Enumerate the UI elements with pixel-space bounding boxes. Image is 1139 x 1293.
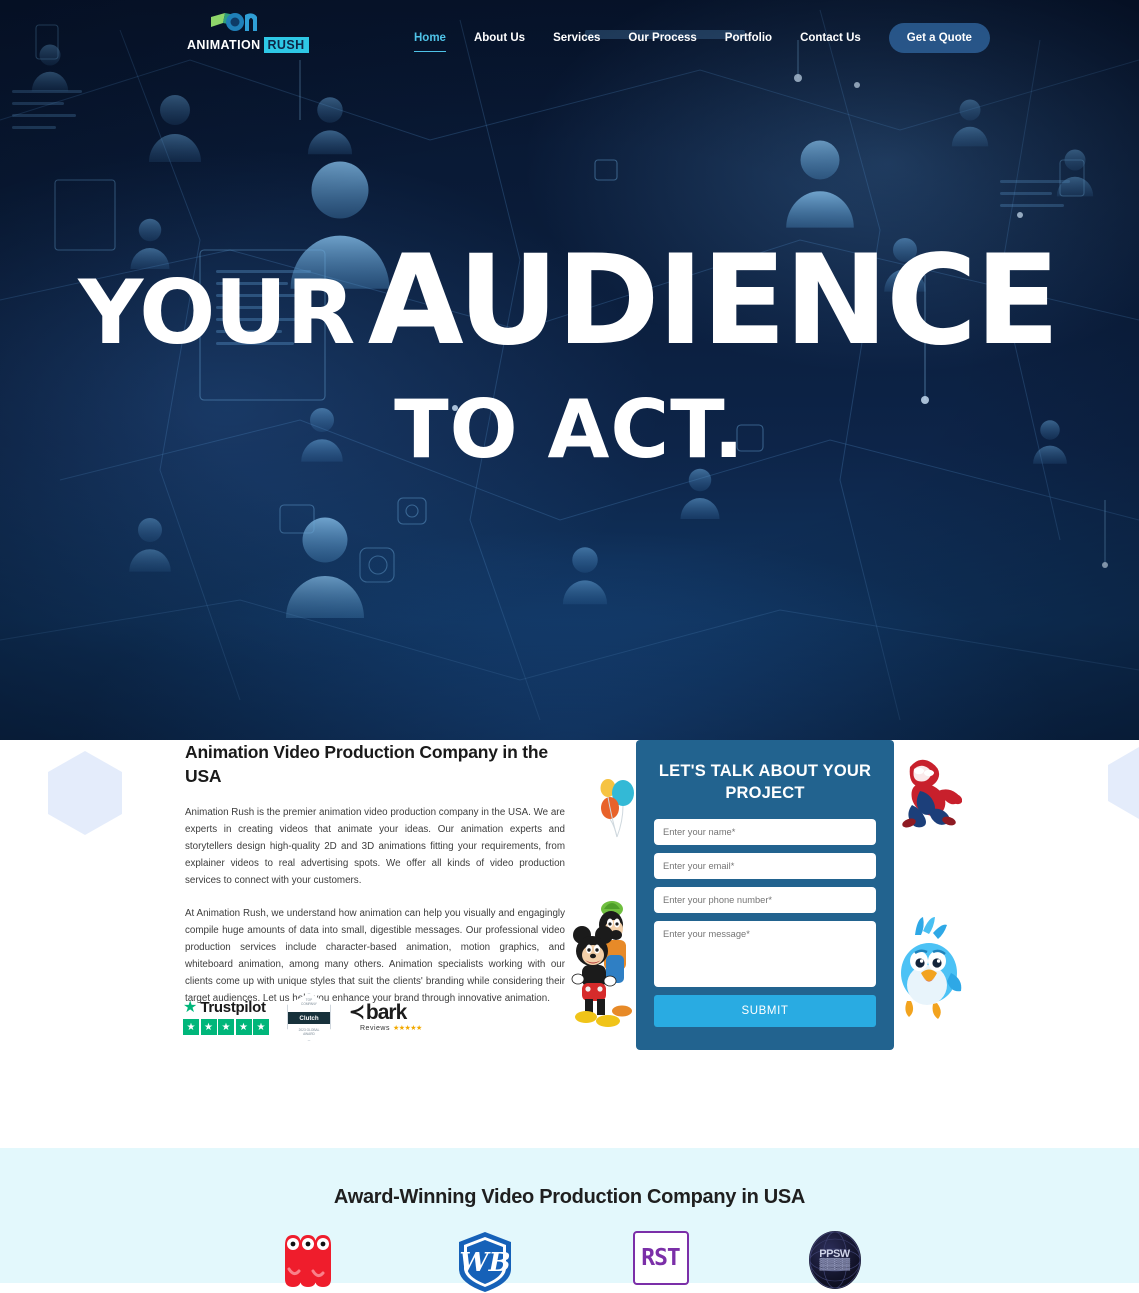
page-title: Animation Video Production Company in th…	[185, 741, 565, 788]
nav-item-contact-us[interactable]: Contact Us	[786, 32, 875, 44]
bark-chevron-icon: ≺	[349, 1003, 365, 1022]
decorative-hexagon-left	[48, 751, 122, 835]
main-navigation: Home About Us Services Our Process Portf…	[400, 23, 990, 53]
get-a-quote-button[interactable]: Get a Quote	[889, 23, 990, 53]
star-icon: ★	[218, 1019, 234, 1035]
balloons-decoration	[595, 775, 641, 845]
nav-item-services[interactable]: Services	[539, 32, 614, 44]
ppsw-logo: PPSW ▓▓▓▓	[809, 1231, 861, 1287]
phone-field[interactable]	[654, 887, 876, 913]
message-field[interactable]	[654, 921, 876, 987]
landing-page: ANIMATION RUSH Home About Us Services Ou…	[0, 0, 1139, 1283]
nav-item-portfolio[interactable]: Portfolio	[711, 32, 786, 44]
nav-item-about-us[interactable]: About Us	[460, 32, 539, 44]
trust-badges: ★ Trustpilot ★ ★ ★ ★ ★ TOPCOMPANY Clutch…	[183, 993, 422, 1041]
cartoon-characters-mickey-goofy	[564, 885, 644, 1035]
star-icon: ★	[183, 1019, 199, 1035]
decorative-hexagon-top-right	[1108, 747, 1139, 819]
clutch-badge[interactable]: TOPCOMPANY Clutch 2023 GLOBALAWARD	[287, 993, 331, 1041]
client-logos: WB RST PPSW ▓▓▓▓	[0, 1231, 1139, 1287]
bark-reviews-label: Reviews	[360, 1025, 390, 1032]
trustpilot-label: Trustpilot	[200, 999, 265, 1016]
hero-headline: YOUR AUDIENCE TO ACT.	[0, 243, 1139, 476]
site-header: ANIMATION RUSH Home About Us Services Ou…	[0, 0, 1139, 64]
wb-monogram: WB	[459, 1248, 510, 1278]
star-icon: ★	[201, 1019, 217, 1035]
nav-item-our-process[interactable]: Our Process	[614, 32, 710, 44]
hero-headline-your: YOUR	[78, 271, 354, 355]
spiderman-character	[890, 747, 962, 833]
awards-section: Award-Winning Video Production Company i…	[0, 1148, 1139, 1283]
star-icon: ★	[253, 1019, 269, 1035]
submit-button[interactable]: SUBMIT	[654, 995, 876, 1027]
awards-title: Award-Winning Video Production Company i…	[0, 1148, 1139, 1209]
intro-paragraph-1: Animation Rush is the premier animation …	[185, 805, 565, 889]
rst-label: RST	[641, 1245, 680, 1271]
animation-rush-logo-icon	[209, 11, 282, 35]
logo[interactable]: ANIMATION RUSH	[187, 11, 282, 53]
warner-bros-logo: WB	[457, 1231, 513, 1287]
email-field[interactable]	[654, 853, 876, 879]
hero-section: ANIMATION RUSH Home About Us Services Ou…	[0, 0, 1139, 740]
trustpilot-badge[interactable]: ★ Trustpilot ★ ★ ★ ★ ★	[183, 999, 269, 1035]
contact-form: LET'S TALK ABOUT YOUR PROJECT SUBMIT	[636, 740, 894, 1050]
bark-label: bark	[366, 1002, 406, 1023]
rst-logo: RST	[633, 1231, 689, 1287]
form-title: LET'S TALK ABOUT YOUR PROJECT	[654, 760, 876, 805]
bark-rating-stars: ★★★★★	[393, 1024, 422, 1032]
red-character-logo	[279, 1231, 337, 1287]
name-field[interactable]	[654, 819, 876, 845]
ppsw-label-secondary: ▓▓▓▓	[819, 1260, 849, 1270]
blue-bird-character	[893, 915, 963, 1031]
logo-text-accent: RUSH	[264, 37, 309, 53]
hero-headline-to-act: TO ACT.	[0, 383, 1139, 476]
hero-headline-audience: AUDIENCE	[368, 243, 1058, 361]
logo-text-primary: ANIMATION	[187, 38, 261, 52]
clutch-label: Clutch	[299, 1015, 318, 1022]
nav-item-home[interactable]: Home	[400, 32, 460, 44]
intro-section: Animation Video Production Company in th…	[0, 740, 1139, 1148]
bark-badge[interactable]: ≺ bark Reviews ★★★★★	[349, 1002, 422, 1032]
trustpilot-rating-stars: ★ ★ ★ ★ ★	[183, 1019, 269, 1035]
intro-text-block: Animation Video Production Company in th…	[185, 741, 565, 1008]
star-icon: ★	[236, 1019, 252, 1035]
trustpilot-star-icon: ★	[183, 1000, 197, 1016]
